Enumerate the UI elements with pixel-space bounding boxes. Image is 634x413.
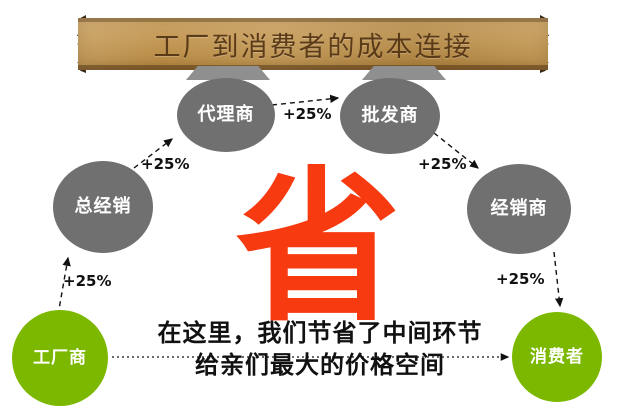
slogan: 在这里，我们节省了中间环节 给亲们最大的价格空间 — [140, 318, 500, 381]
saving-character: 省 — [218, 168, 418, 328]
arrow-dealer-to-consumer — [554, 252, 560, 306]
slogan-line-2: 给亲们最大的价格空间 — [140, 350, 500, 382]
node-agent[interactable]: 代理商 — [177, 78, 275, 152]
markup-label-factory-to-general: +25% — [63, 272, 111, 290]
title-banner: 工厂到消费者的成本连接 — [78, 18, 548, 70]
node-consumer[interactable]: 消费者 — [512, 312, 602, 402]
banner-background: 工厂到消费者的成本连接 — [78, 18, 548, 70]
arrow-agent-to-wholesale — [272, 98, 338, 105]
infographic-canvas: 工厂到消费者的成本连接 省 工厂商 总经销 代理商 批发商 经销商 消费者 +2… — [0, 0, 634, 413]
page-title: 工厂到消费者的成本连接 — [78, 18, 548, 70]
slogan-line-1: 在这里，我们节省了中间环节 — [140, 318, 500, 350]
node-wholesaler[interactable]: 批发商 — [340, 78, 440, 154]
node-dealer[interactable]: 经销商 — [467, 164, 571, 254]
markup-label-agent-to-wholesale: +25% — [283, 105, 331, 123]
node-factory[interactable]: 工厂商 — [12, 310, 108, 406]
node-general-distributor[interactable]: 总经销 — [53, 161, 153, 253]
markup-label-general-to-agent: +25% — [141, 155, 189, 173]
markup-label-wholesale-to-dealer: +25% — [418, 155, 466, 173]
banner-pedestal-right — [362, 66, 446, 80]
markup-label-dealer-to-consumer: +25% — [496, 270, 544, 288]
